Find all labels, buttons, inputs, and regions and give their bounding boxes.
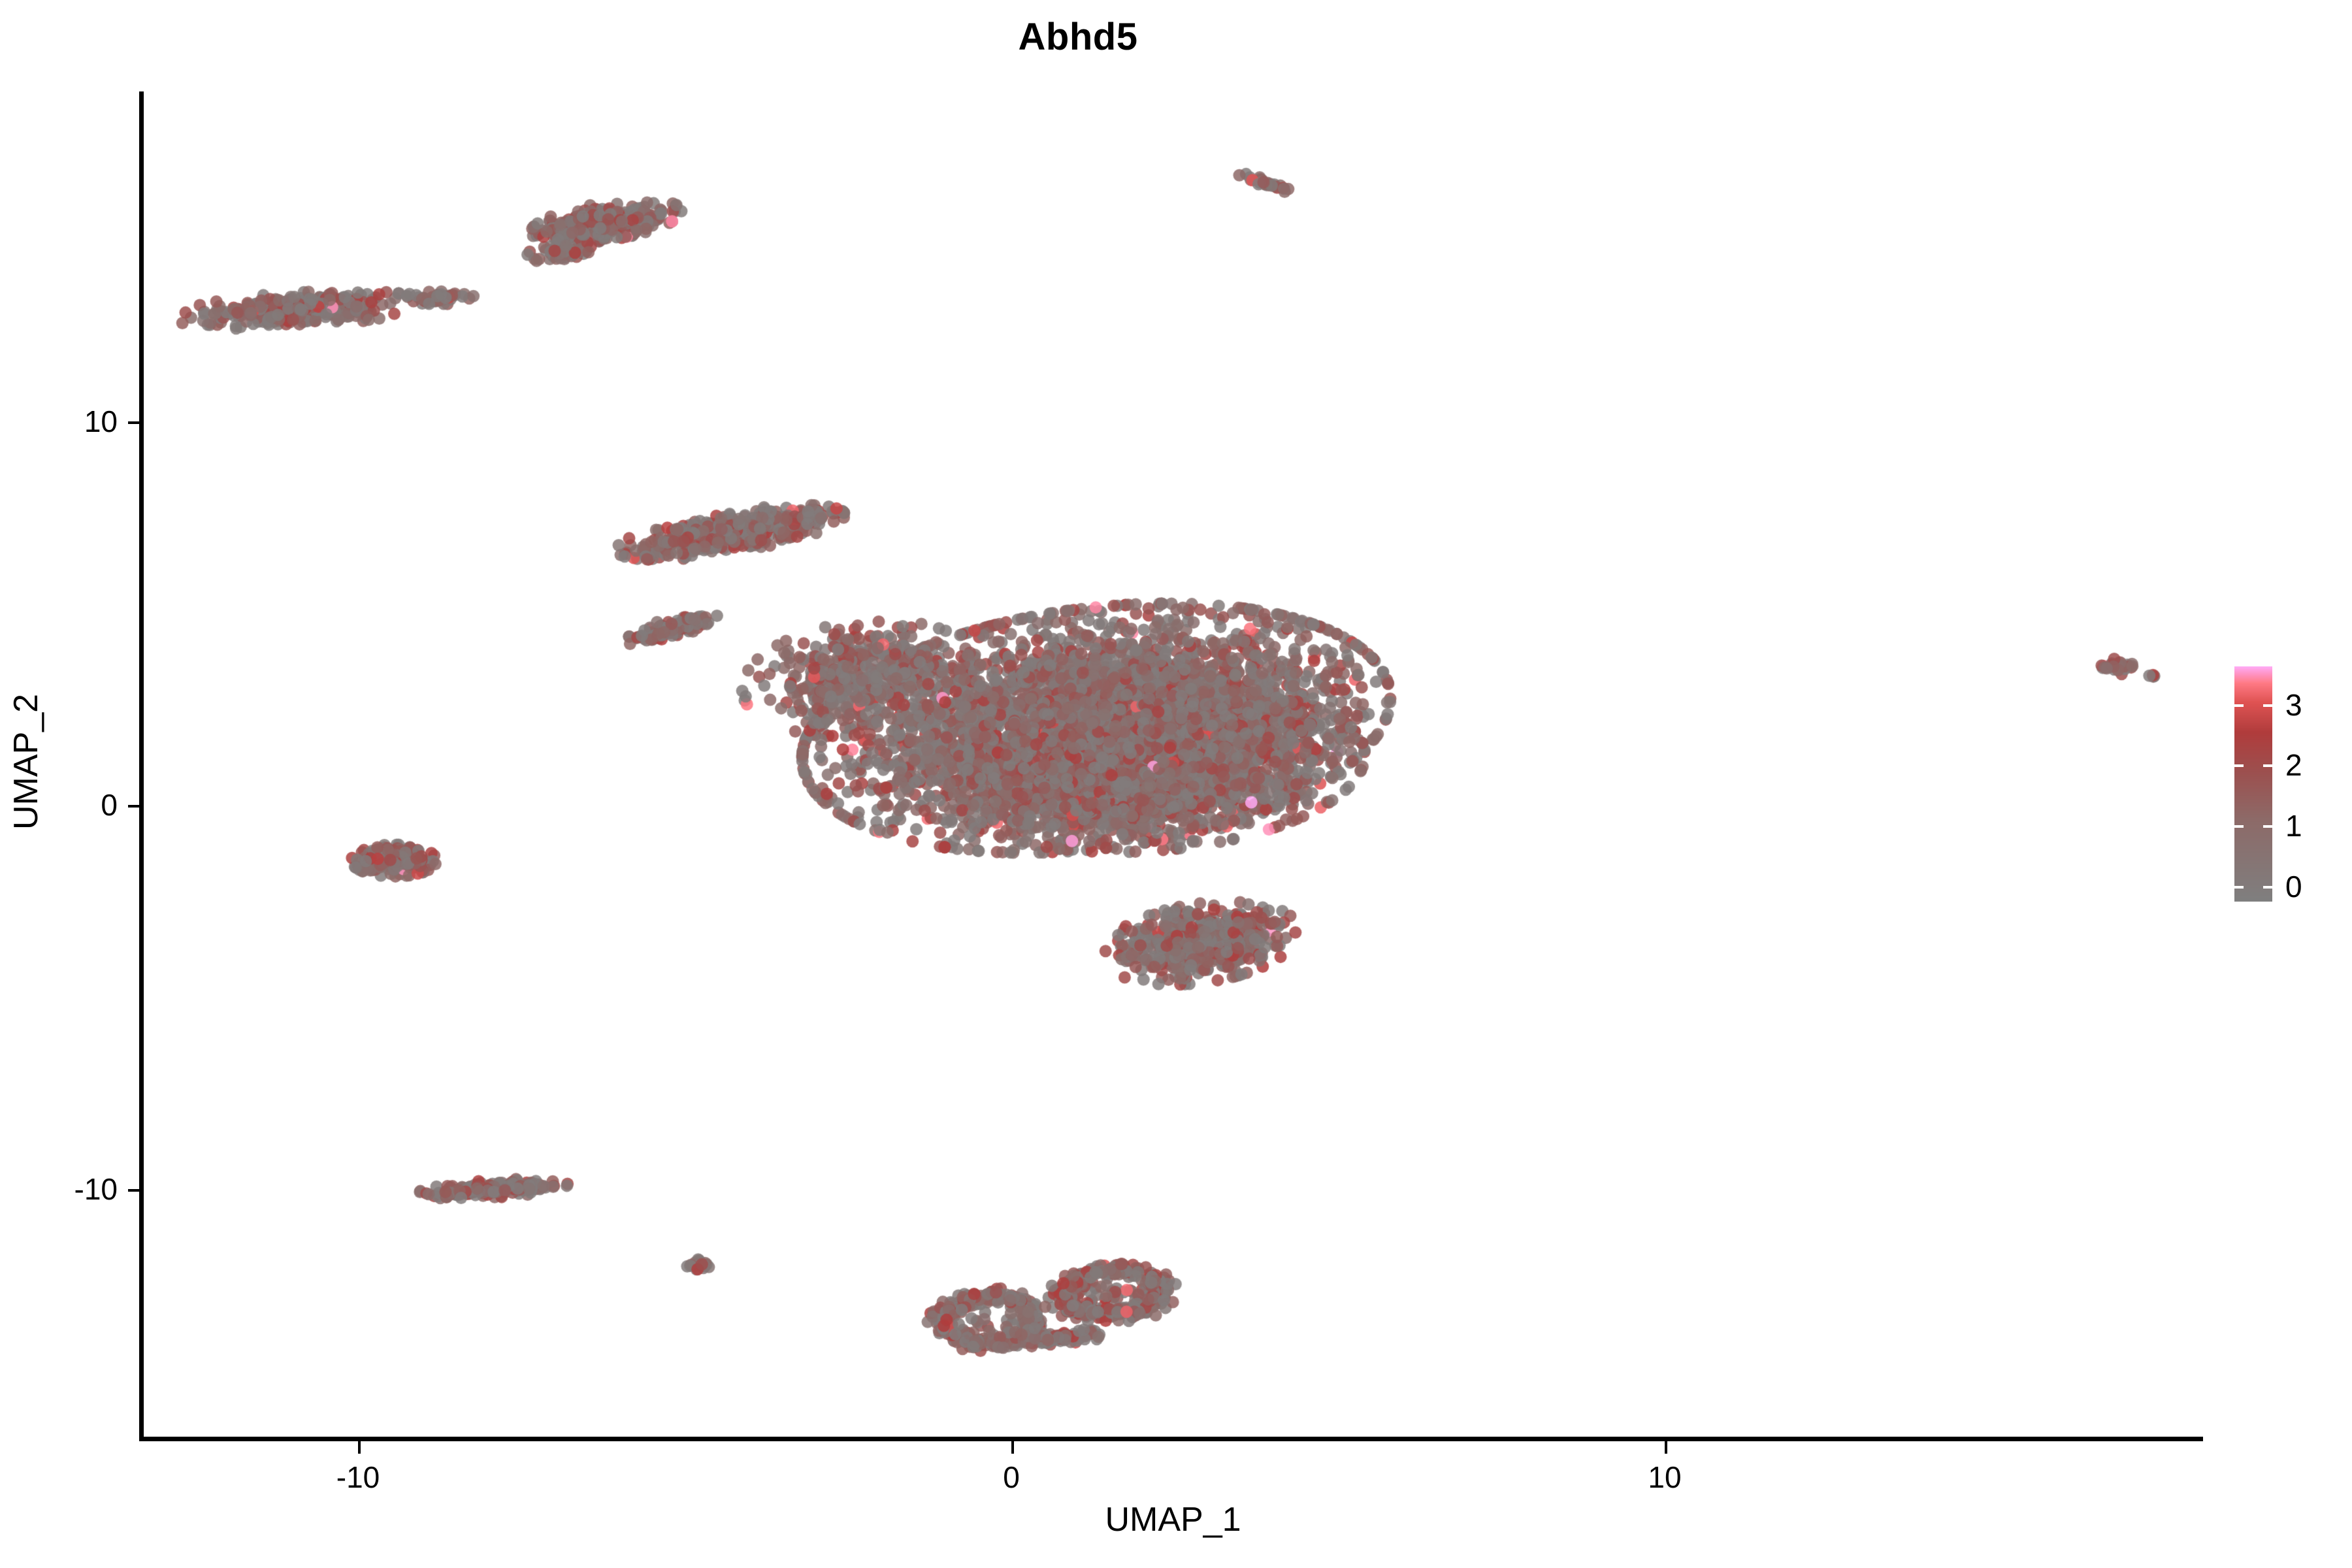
y-ticklabel-minus10: -10 — [20, 1174, 118, 1204]
y-axis-label: UMAP_2 — [7, 694, 45, 830]
figure-root: Abhd5 10 0 -10 -10 0 10 UMAP_1 UMAP_2 3 … — [0, 0, 2352, 1568]
y-ticklabel-10: 10 — [39, 406, 118, 436]
x-ticklabel-10: 10 — [1599, 1462, 1730, 1492]
y-ticklabel-0: 0 — [39, 790, 118, 820]
y-tick-10 — [128, 421, 140, 424]
x-axis-line — [144, 1437, 2203, 1441]
colorbar-label-2: 2 — [2285, 750, 2302, 780]
y-axis-line — [139, 91, 144, 1441]
page-title: Abhd5 — [0, 18, 2156, 56]
y-tick-minus10 — [128, 1189, 140, 1192]
scatter-plot-panel[interactable] — [144, 91, 2202, 1439]
colorbar-gradient — [2234, 666, 2272, 902]
x-tick-0 — [1011, 1441, 1014, 1454]
y-axis-label-wrapper: UMAP_2 — [9, 435, 43, 1088]
colorbar-label-0: 0 — [2285, 872, 2302, 902]
colorbar-legend[interactable]: 3 2 1 0 — [2234, 666, 2339, 902]
colorbar-label-3: 3 — [2285, 690, 2302, 720]
x-tick-minus10 — [358, 1441, 361, 1454]
colorbar-label-1: 1 — [2285, 811, 2302, 841]
colorbar-tick-1 — [2234, 825, 2272, 828]
x-ticklabel-minus10: -10 — [293, 1462, 423, 1492]
x-tick-10 — [1665, 1441, 1667, 1454]
x-ticklabel-0: 0 — [946, 1462, 1077, 1492]
colorbar-tick-3 — [2234, 704, 2272, 707]
x-axis-label: UMAP_1 — [144, 1503, 2202, 1537]
y-tick-0 — [128, 805, 140, 808]
colorbar-tick-0 — [2234, 886, 2272, 889]
colorbar-tick-2 — [2234, 764, 2272, 767]
umap-scatter-canvas[interactable] — [144, 91, 2202, 1439]
